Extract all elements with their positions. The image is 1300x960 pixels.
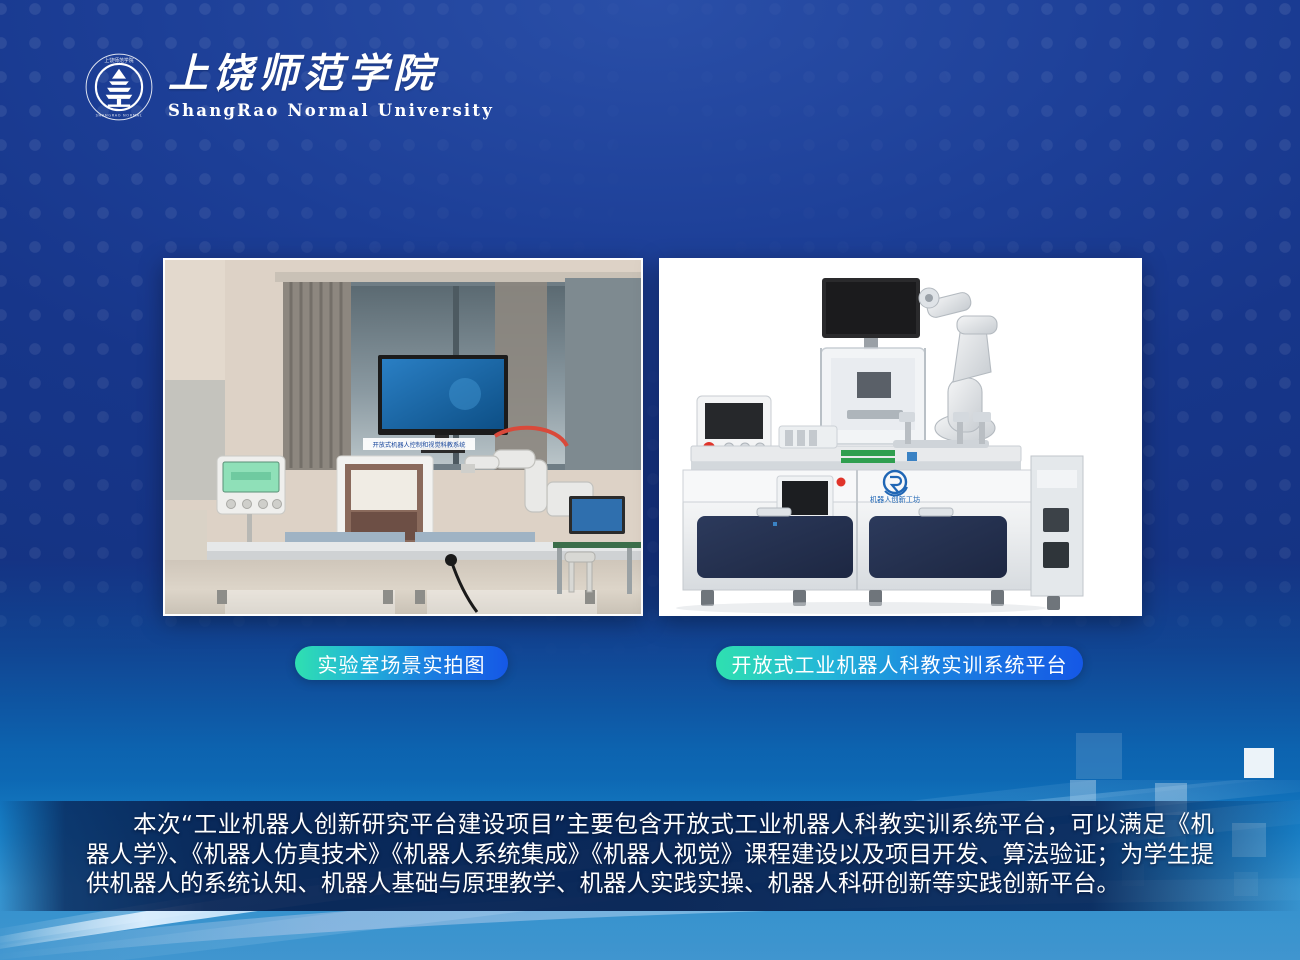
university-name-cn: 上饶师范学院 [168, 54, 494, 94]
body-paragraph: 本次“工业机器人创新研究平台建设项目”主要包含开放式工业机器人科教实训系统平台，… [86, 810, 1214, 899]
university-name-en: ShangRao Normal University [168, 101, 494, 120]
slide-canvas: 上饶师范学院 SHANGRAO NORMAL 上饶师范学院 ShangRao N… [0, 0, 1300, 960]
caption-pill-platform[interactable]: 开放式工业机器人科教实训系统平台 [716, 646, 1083, 680]
caption-pill-laboratory[interactable]: 实验室场景实拍图 [295, 646, 508, 680]
svg-text:SHANGRAO NORMAL: SHANGRAO NORMAL [96, 113, 143, 117]
equipment-nameplate-text-left: 开放式机器人控制和视觉科教系统 [373, 441, 466, 449]
industrial-robot-platform-photo[interactable]: 机器人创新工坊 [659, 258, 1142, 616]
decorative-square-1 [1076, 733, 1122, 779]
university-wordmark: 上饶师范学院 ShangRao Normal University [168, 54, 494, 120]
svg-text:上饶师范学院: 上饶师范学院 [104, 57, 133, 64]
university-logo: 上饶师范学院 SHANGRAO NORMAL 上饶师范学院 ShangRao N… [84, 52, 494, 122]
caption-right-label: 开放式工业机器人科教实训系统平台 [732, 649, 1068, 678]
cabinet-brand-text-right: 机器人创新工坊 [870, 495, 920, 504]
laboratory-scene-photo[interactable]: 开放式机器人控制和视觉科教系统 [163, 258, 643, 616]
caption-left-label: 实验室场景实拍图 [318, 649, 486, 678]
decorative-square-2 [1244, 748, 1274, 778]
university-crest-icon: 上饶师范学院 SHANGRAO NORMAL [84, 52, 154, 122]
